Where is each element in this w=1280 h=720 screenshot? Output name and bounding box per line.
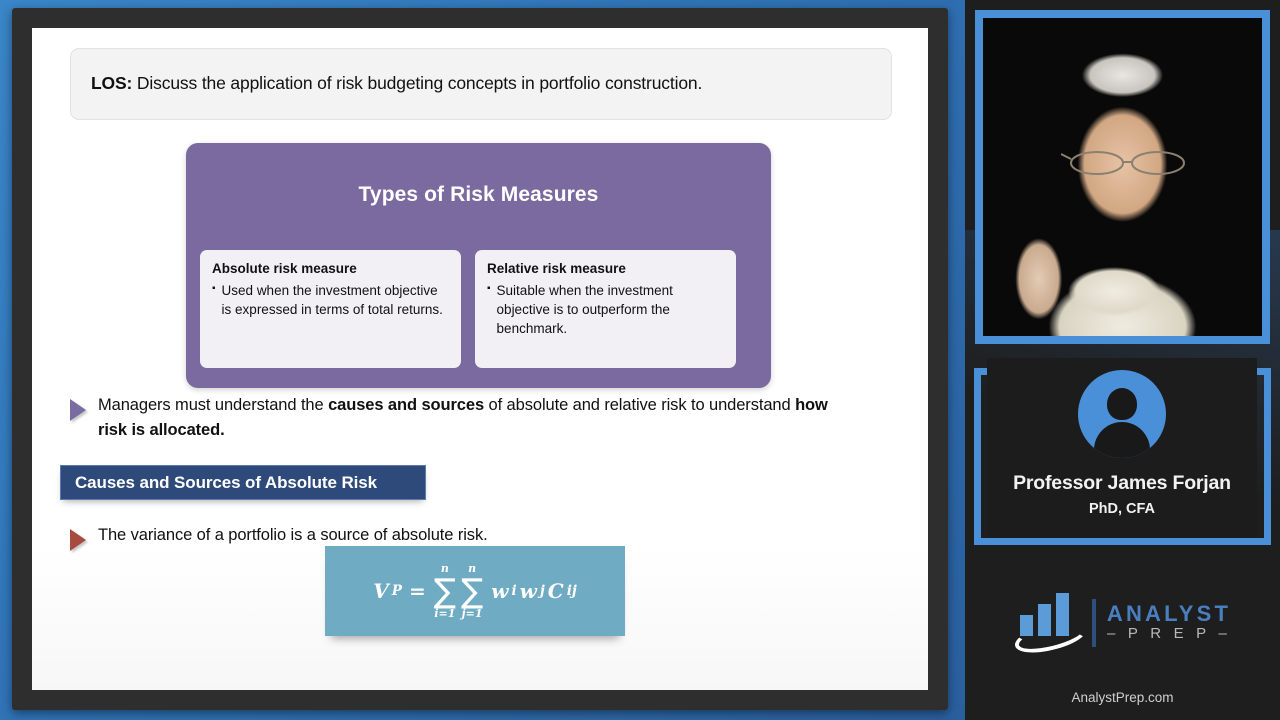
presenter-video-frame [983, 18, 1262, 336]
formula-equals: = [409, 579, 426, 603]
sum-lower-limit: j=1 [462, 608, 483, 619]
formula-w1: w [491, 579, 508, 603]
sigma-icon: ∑ [434, 575, 456, 606]
avatar-body-icon [1094, 422, 1150, 458]
portfolio-variance-formula: VP = n ∑ i=1 n ∑ j=1 wiwjCij [373, 563, 577, 618]
formula-c: C [548, 579, 564, 603]
slide-frame: LOS: Discuss the application of risk bud… [12, 8, 948, 710]
bar-chart-logo-icon [1014, 596, 1088, 650]
formula-lhs: V [373, 579, 389, 603]
bullet-seg: of absolute and relative risk to underst… [484, 396, 795, 414]
absolute-risk-card-text: Used when the investment objective is ex… [222, 281, 449, 319]
relative-risk-card-text: Suitable when the investment objective i… [497, 281, 724, 338]
avatar-head-icon [1107, 388, 1137, 420]
sigma-icon: ∑ [461, 575, 483, 606]
eyeglasses-icon [1061, 150, 1193, 176]
formula-c-subscript: ij [567, 583, 577, 599]
absolute-risk-card-title: Absolute risk measure [212, 261, 449, 276]
risk-measures-title: Types of Risk Measures [186, 183, 771, 207]
analystprep-logo[interactable]: ANALYST – P R E P – [965, 596, 1280, 650]
absolute-risk-card-bullet: ▪ Used when the investment objective is … [212, 281, 449, 319]
bullet-seg: Managers must understand the [98, 396, 328, 414]
relative-risk-card: Relative risk measure ▪ Suitable when th… [475, 250, 736, 368]
logo-url-text: AnalystPrep.com [965, 690, 1280, 705]
presenter-card: Professor James Forjan PhD, CFA [987, 358, 1257, 538]
relative-risk-card-title: Relative risk measure [487, 261, 724, 276]
los-box: LOS: Discuss the application of risk bud… [70, 48, 892, 120]
bullet-seg-bold: causes and sources [328, 396, 484, 414]
presenter-credential: PhD, CFA [987, 501, 1257, 517]
sum-lower-limit: i=1 [434, 608, 455, 619]
logo-prep-text: – P R E P – [1107, 625, 1231, 644]
bullet-text: Managers must understand the causes and … [98, 393, 860, 443]
formula-lhs-subscript: P [392, 583, 402, 599]
section-banner-text: Causes and Sources of Absolute Risk [75, 473, 377, 493]
relative-risk-card-bullet: ▪ Suitable when the investment objective… [487, 281, 724, 338]
formula-w2-subscript: j [540, 583, 545, 599]
risk-measures-panel: Types of Risk Measures Absolute risk mea… [186, 143, 771, 388]
triangle-bullet-icon [70, 529, 86, 551]
formula-w1-subscript: i [511, 583, 516, 599]
slide-canvas: LOS: Discuss the application of risk bud… [32, 28, 928, 690]
summation-outer: n ∑ i=1 [434, 563, 456, 618]
bullet-seg: The variance of a portfolio is a source … [98, 526, 488, 544]
right-panel: Professor James Forjan PhD, CFA ANALYST … [965, 0, 1280, 720]
presenter-name: Professor James Forjan [987, 472, 1257, 495]
logo-analyst-text: ANALYST [1107, 602, 1231, 625]
section-banner: Causes and Sources of Absolute Risk [60, 465, 426, 500]
logo-wordmark: ANALYST – P R E P – [1107, 602, 1231, 644]
formula-box: VP = n ∑ i=1 n ∑ j=1 wiwjCij [325, 546, 625, 636]
los-label: LOS: [91, 73, 132, 93]
summation-inner: n ∑ j=1 [461, 563, 483, 618]
bullet-row: Managers must understand the causes and … [70, 393, 860, 443]
logo-divider [1092, 599, 1096, 647]
square-bullet-icon: ▪ [212, 281, 216, 319]
avatar [1078, 370, 1166, 458]
los-text: LOS: Discuss the application of risk bud… [91, 73, 702, 95]
absolute-risk-card: Absolute risk measure ▪ Used when the in… [200, 250, 461, 368]
formula-w2: w [520, 579, 537, 603]
square-bullet-icon: ▪ [487, 281, 491, 338]
presentation-stage: LOS: Discuss the application of risk bud… [0, 0, 1280, 720]
los-statement: Discuss the application of risk budgetin… [132, 73, 702, 93]
triangle-bullet-icon [70, 399, 86, 421]
presenter-video[interactable] [975, 10, 1270, 344]
